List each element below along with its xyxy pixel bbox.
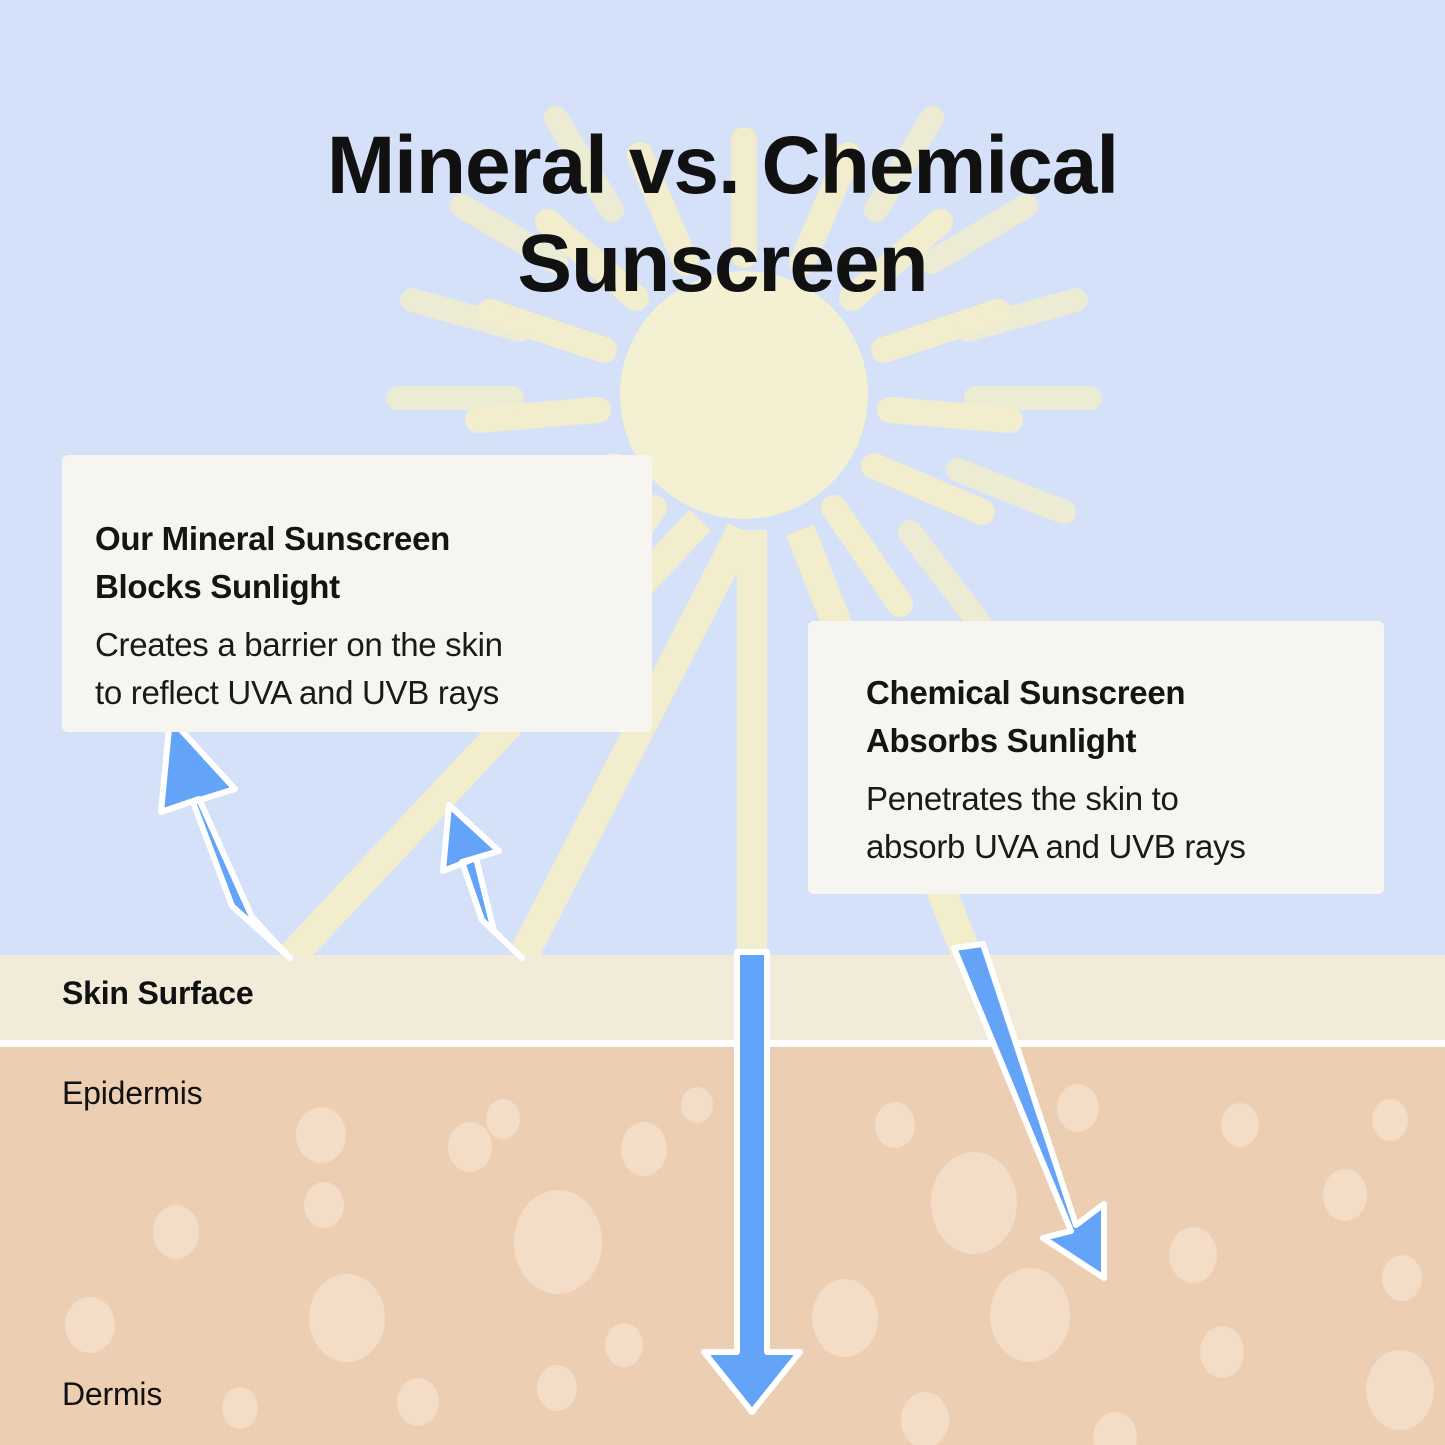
skin-layer-divider (0, 1040, 1445, 1047)
infographic-canvas: Mineral vs. Chemical Sunscreen Our Miner… (0, 0, 1445, 1445)
info-card-chemical-title-line-1: Chemical Sunscreen (866, 669, 1348, 717)
info-card-mineral-body-line-2: to reflect UVA and UVB rays (95, 669, 612, 717)
info-card-mineral-body-line-1: Creates a barrier on the skin (95, 621, 612, 669)
info-card-chemical-body-line-2: absorb UVA and UVB rays (866, 823, 1348, 871)
info-card-mineral-body: Creates a barrier on the skin to reflect… (95, 621, 612, 717)
info-card-mineral-title-line-1: Our Mineral Sunscreen (95, 515, 612, 563)
info-card-chemical-title: Chemical Sunscreen Absorbs Sunlight (866, 669, 1348, 765)
info-card-chemical-body-line-1: Penetrates the skin to (866, 775, 1348, 823)
info-card-mineral-title: Our Mineral Sunscreen Blocks Sunlight (95, 515, 612, 611)
info-card-chemical-body: Penetrates the skin to absorb UVA and UV… (866, 775, 1348, 871)
info-card-mineral: Our Mineral Sunscreen Blocks Sunlight Cr… (62, 455, 652, 732)
layer-label-skin-surface: Skin Surface (62, 975, 253, 1012)
layer-label-epidermis: Epidermis (62, 1075, 202, 1112)
info-card-mineral-title-line-2: Blocks Sunlight (95, 563, 612, 611)
info-card-chemical: Chemical Sunscreen Absorbs Sunlight Pene… (808, 621, 1384, 894)
sun-icon (620, 271, 868, 519)
layer-label-dermis: Dermis (62, 1376, 162, 1413)
epidermis-dermis-band (0, 1047, 1445, 1445)
info-card-chemical-title-line-2: Absorbs Sunlight (866, 717, 1348, 765)
